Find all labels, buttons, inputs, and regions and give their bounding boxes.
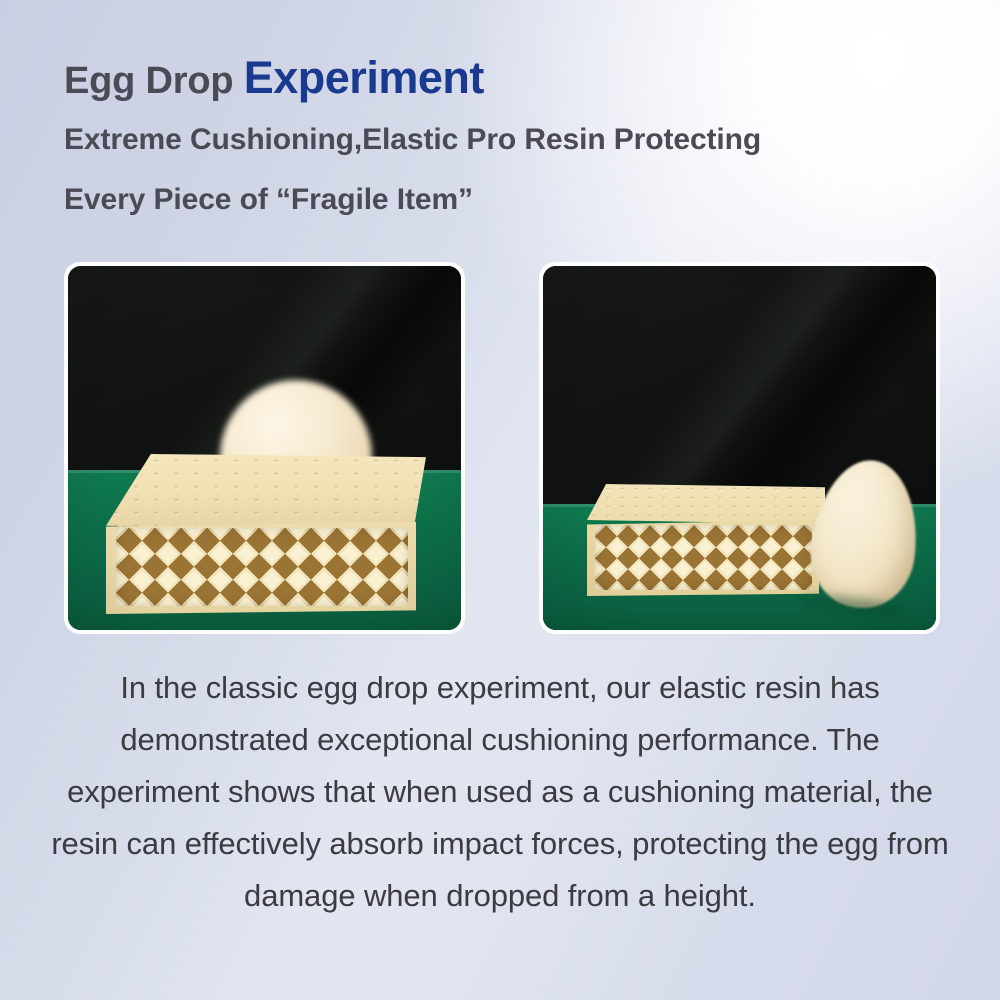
lattice-block-flat: [587, 484, 825, 596]
block-lattice-pattern: [595, 525, 812, 590]
photo-intact-egg-beside-block: [543, 266, 936, 630]
page-title: Egg Drop Experiment: [64, 52, 964, 104]
page-title-main: Egg Drop: [64, 60, 244, 102]
subtitle-line-2: Every Piece of “Fragile Item”: [64, 176, 964, 225]
lattice-block-tall: [106, 454, 426, 614]
heading-block: Egg Drop Experiment Extreme Cushioning,E…: [64, 52, 964, 225]
block-front-face: [587, 520, 819, 596]
photo-row: [64, 262, 940, 634]
body-paragraph: In the classic egg drop experiment, our …: [42, 662, 958, 922]
block-top-dimple-texture: [106, 454, 426, 532]
block-lattice-pattern: [116, 528, 408, 606]
subtitle-line-1: Extreme Cushioning,Elastic Pro Resin Pro…: [64, 116, 964, 165]
photo-frame-right: [539, 262, 940, 634]
photo-frame-left: [64, 262, 465, 634]
photo-egg-on-lattice-block: [68, 266, 461, 630]
page-title-accent: Experiment: [244, 52, 484, 103]
block-front-face: [106, 522, 416, 614]
block-top-dimple-texture: [587, 484, 825, 524]
poster-canvas: Egg Drop Experiment Extreme Cushioning,E…: [0, 0, 1000, 1000]
